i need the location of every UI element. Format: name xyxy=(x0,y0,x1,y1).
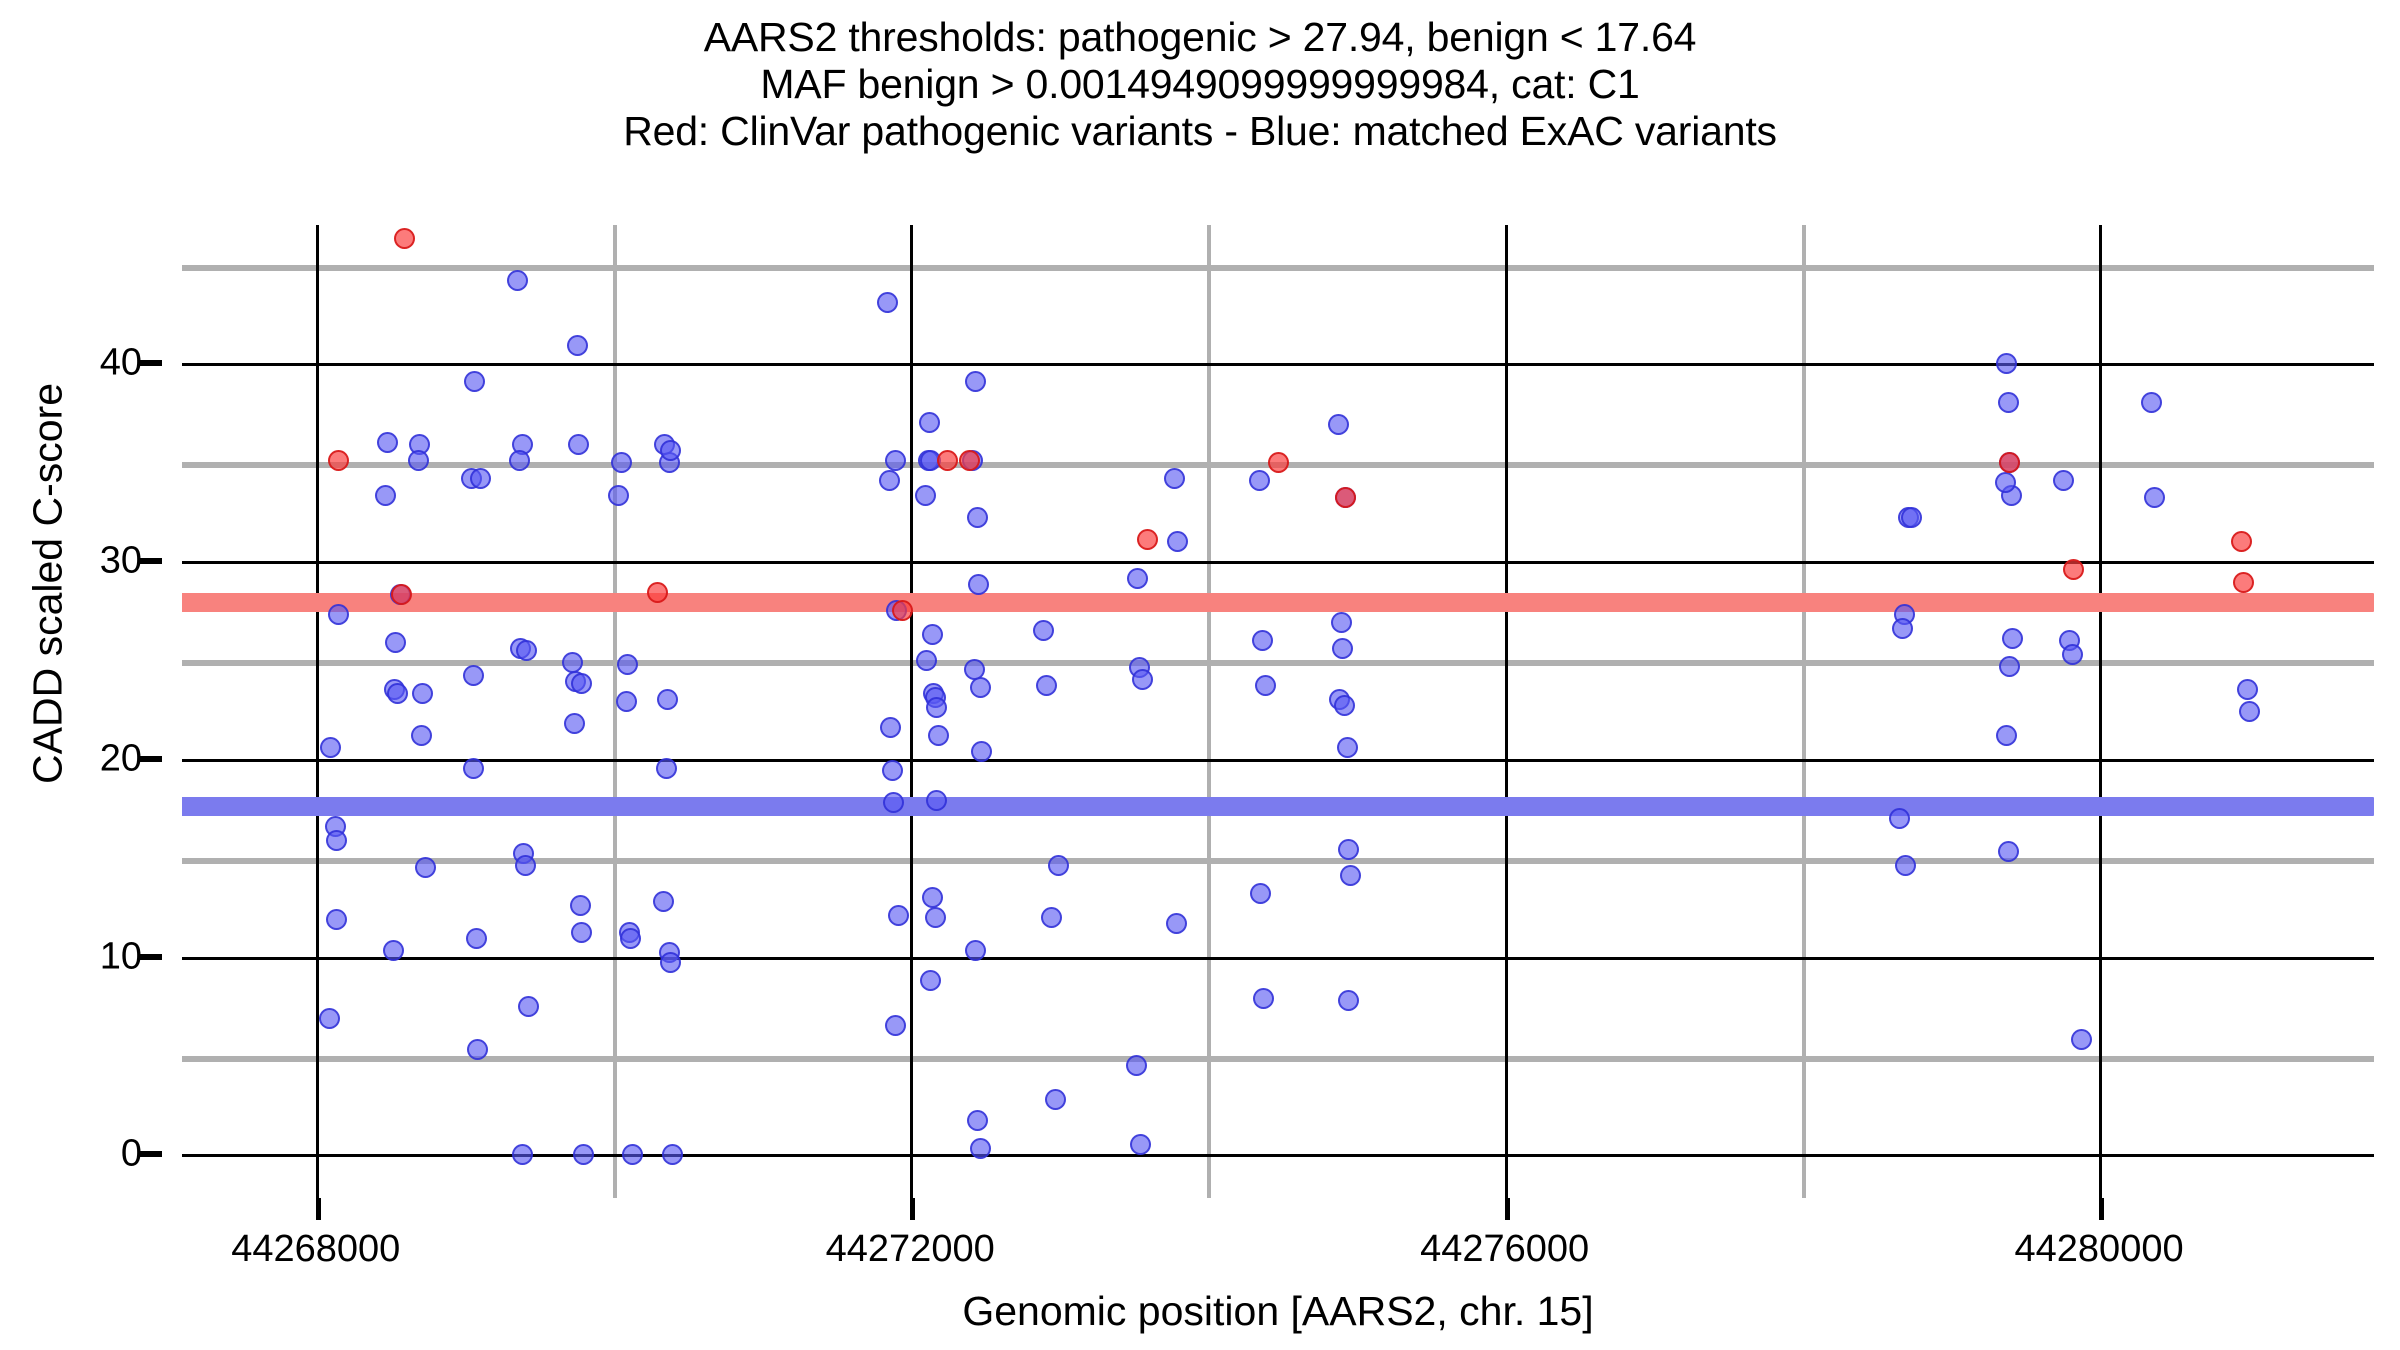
point-exac xyxy=(328,604,349,625)
point-exac xyxy=(656,758,677,779)
point-exac xyxy=(660,952,681,973)
point-exac xyxy=(1048,855,1069,876)
plot-area xyxy=(182,225,2374,1198)
point-exac xyxy=(922,624,943,645)
point-exac xyxy=(562,652,583,673)
title-line-1: AARS2 thresholds: pathogenic > 27.94, be… xyxy=(0,14,2400,61)
point-exac xyxy=(926,697,947,718)
y-tick-label: 20 xyxy=(100,737,142,780)
point-exac xyxy=(1999,656,2020,677)
point-pathogenic xyxy=(959,450,980,471)
y-tick-mark xyxy=(140,954,162,960)
point-exac xyxy=(970,1138,991,1159)
benign-threshold-band xyxy=(182,797,2374,816)
point-exac xyxy=(568,434,589,455)
point-exac xyxy=(1996,353,2017,374)
title-line-3: Red: ClinVar pathogenic variants - Blue:… xyxy=(0,108,2400,155)
point-exac xyxy=(2053,470,2074,491)
y-tick-label: 10 xyxy=(100,935,142,978)
point-exac xyxy=(1895,855,1916,876)
point-pathogenic xyxy=(2233,572,2254,593)
point-exac xyxy=(464,371,485,392)
point-exac xyxy=(571,922,592,943)
point-exac xyxy=(1328,414,1349,435)
point-exac xyxy=(922,887,943,908)
y-tick-mark xyxy=(140,558,162,564)
gridline-minor-vertical xyxy=(1207,225,1211,1198)
point-exac xyxy=(385,632,406,653)
point-exac xyxy=(320,737,341,758)
x-tick-label: 44272000 xyxy=(826,1228,995,1271)
gridline-major-horizontal xyxy=(182,1154,2374,1157)
point-exac xyxy=(1045,1089,1066,1110)
point-exac xyxy=(512,1144,533,1165)
x-axis-label: Genomic position [AARS2, chr. 15] xyxy=(182,1288,2374,1335)
point-exac xyxy=(326,909,347,930)
point-exac xyxy=(377,432,398,453)
x-tick-mark xyxy=(316,1198,321,1220)
point-exac xyxy=(564,713,585,734)
point-exac xyxy=(1337,737,1358,758)
point-exac xyxy=(507,270,528,291)
gridline-major-horizontal xyxy=(182,363,2374,366)
point-exac xyxy=(877,292,898,313)
point-exac xyxy=(2071,1029,2092,1050)
point-exac xyxy=(1164,468,1185,489)
point-exac xyxy=(879,470,900,491)
point-exac xyxy=(470,468,491,489)
y-axis-label: CADD scaled C-score xyxy=(25,204,72,964)
point-exac xyxy=(1996,725,2017,746)
point-exac xyxy=(1166,913,1187,934)
point-exac xyxy=(1255,675,1276,696)
point-exac xyxy=(920,970,941,991)
point-exac xyxy=(2141,392,2162,413)
gridline-minor-horizontal xyxy=(182,1056,2374,1062)
point-exac xyxy=(1036,675,1057,696)
point-exac xyxy=(617,654,638,675)
point-exac xyxy=(611,452,632,473)
point-exac xyxy=(915,485,936,506)
point-exac xyxy=(1252,630,1273,651)
point-exac xyxy=(928,725,949,746)
point-exac xyxy=(375,485,396,506)
point-exac xyxy=(608,485,629,506)
point-exac xyxy=(463,758,484,779)
title-line-2: MAF benign > 0.0014949099999999984, cat:… xyxy=(0,61,2400,108)
point-exac xyxy=(1889,808,1910,829)
point-exac xyxy=(653,891,674,912)
point-exac xyxy=(1132,669,1153,690)
gridline-minor-horizontal xyxy=(182,265,2374,271)
point-exac xyxy=(1126,1055,1147,1076)
point-exac xyxy=(319,1008,340,1029)
y-tick-mark xyxy=(140,756,162,762)
point-exac xyxy=(971,741,992,762)
point-exac xyxy=(657,689,678,710)
point-exac xyxy=(2237,679,2258,700)
point-exac xyxy=(567,335,588,356)
point-exac xyxy=(412,683,433,704)
point-exac xyxy=(1167,531,1188,552)
point-exac xyxy=(1253,988,1274,1009)
point-exac xyxy=(383,940,404,961)
gridline-minor-vertical xyxy=(613,225,617,1198)
chart-title: AARS2 thresholds: pathogenic > 27.94, be… xyxy=(0,14,2400,155)
point-exac xyxy=(925,907,946,928)
y-tick-label: 30 xyxy=(100,540,142,583)
point-exac xyxy=(662,1144,683,1165)
point-exac xyxy=(919,412,940,433)
y-tick-label: 0 xyxy=(121,1133,142,1176)
gridline-major-horizontal xyxy=(182,561,2374,564)
point-exac xyxy=(570,895,591,916)
point-pathogenic xyxy=(1999,452,2020,473)
point-exac xyxy=(509,450,530,471)
point-exac xyxy=(888,905,909,926)
point-exac xyxy=(1249,470,1270,491)
point-exac xyxy=(1338,990,1359,1011)
x-tick-mark xyxy=(1505,1198,1510,1220)
point-exac xyxy=(1033,620,1054,641)
point-exac xyxy=(1995,472,2016,493)
point-exac xyxy=(408,450,429,471)
gridline-minor-vertical xyxy=(1802,225,1806,1198)
point-exac xyxy=(463,665,484,686)
point-exac xyxy=(1334,695,1355,716)
point-exac xyxy=(573,1144,594,1165)
point-exac xyxy=(616,691,637,712)
point-pathogenic xyxy=(2063,559,2084,580)
point-exac xyxy=(1332,638,1353,659)
point-exac xyxy=(415,857,436,878)
point-exac xyxy=(1998,392,2019,413)
point-exac xyxy=(1892,618,1913,639)
point-exac xyxy=(1127,568,1148,589)
x-tick-mark xyxy=(910,1198,915,1220)
point-exac xyxy=(516,640,537,661)
x-tick-label: 44268000 xyxy=(231,1228,400,1271)
point-exac xyxy=(967,507,988,528)
point-exac xyxy=(466,928,487,949)
gridline-major-vertical xyxy=(910,225,913,1198)
point-exac xyxy=(411,725,432,746)
point-exac xyxy=(620,928,641,949)
point-exac xyxy=(518,996,539,1017)
point-pathogenic xyxy=(1335,487,1356,508)
point-pathogenic xyxy=(1137,529,1158,550)
point-pathogenic xyxy=(2231,531,2252,552)
gridline-major-vertical xyxy=(1505,225,1508,1198)
y-tick-mark xyxy=(140,1151,162,1157)
x-tick-label: 44280000 xyxy=(2015,1228,2184,1271)
point-exac xyxy=(2062,644,2083,665)
point-exac xyxy=(885,450,906,471)
point-exac xyxy=(1340,865,1361,886)
x-tick-mark xyxy=(2099,1198,2104,1220)
point-exac xyxy=(387,683,408,704)
point-exac xyxy=(880,717,901,738)
scatter-figure: AARS2 thresholds: pathogenic > 27.94, be… xyxy=(0,0,2400,1350)
plot-clip xyxy=(182,225,2374,1198)
point-exac xyxy=(1250,883,1271,904)
point-exac xyxy=(970,677,991,698)
point-pathogenic xyxy=(328,450,349,471)
point-pathogenic xyxy=(1268,452,1289,473)
point-exac xyxy=(1041,907,1062,928)
point-exac xyxy=(2002,628,2023,649)
gridline-major-horizontal xyxy=(182,759,2374,762)
pathogenic-threshold-band xyxy=(182,593,2374,612)
point-exac xyxy=(885,1015,906,1036)
point-exac xyxy=(2144,487,2165,508)
point-exac xyxy=(965,371,986,392)
point-exac xyxy=(515,855,536,876)
gridline-major-horizontal xyxy=(182,957,2374,960)
point-exac xyxy=(1130,1134,1151,1155)
point-exac xyxy=(622,1144,643,1165)
point-exac xyxy=(2239,701,2260,722)
gridline-minor-horizontal xyxy=(182,858,2374,864)
point-exac xyxy=(916,650,937,671)
gridline-major-vertical xyxy=(316,225,319,1198)
point-exac xyxy=(1901,507,1922,528)
gridline-major-vertical xyxy=(2099,225,2102,1198)
point-exac xyxy=(1331,612,1352,633)
point-exac xyxy=(967,1110,988,1131)
point-exac xyxy=(571,673,592,694)
point-exac xyxy=(882,760,903,781)
x-tick-label: 44276000 xyxy=(1420,1228,1589,1271)
gridline-minor-horizontal xyxy=(182,660,2374,666)
y-tick-label: 40 xyxy=(100,342,142,385)
point-pathogenic xyxy=(937,450,958,471)
y-tick-mark xyxy=(140,360,162,366)
point-exac xyxy=(326,830,347,851)
point-pathogenic xyxy=(394,228,415,249)
